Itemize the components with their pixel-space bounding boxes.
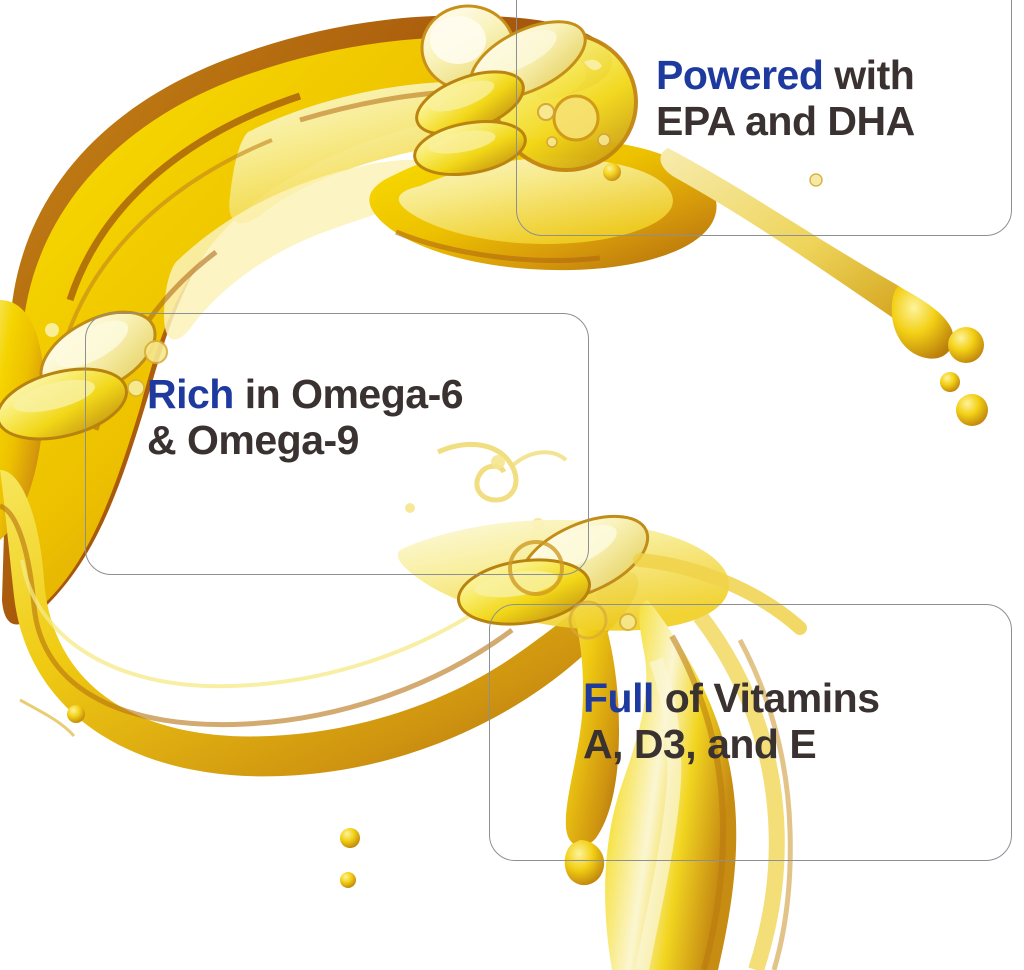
oil-droplet bbox=[340, 872, 356, 888]
callout-text-rich: Rich in Omega-6 & Omega-9 bbox=[147, 371, 577, 464]
callout-text-powered: Powered with EPA and DHA bbox=[656, 52, 1002, 145]
oil-droplet bbox=[948, 327, 984, 363]
oil-droplet bbox=[956, 394, 988, 426]
callout-text-vitamins: Full of Vitamins A, D3, and E bbox=[583, 675, 1003, 768]
callout-highlight-powered: Powered bbox=[656, 52, 823, 98]
graphic-canvas: Powered with EPA and DHA Rich in Omega-6… bbox=[0, 0, 1024, 970]
oil-droplet bbox=[340, 828, 360, 848]
callout-highlight-vitamins: Full bbox=[583, 675, 654, 721]
callout-highlight-rich: Rich bbox=[147, 371, 234, 417]
oil-droplet bbox=[67, 705, 85, 723]
oil-droplet bbox=[940, 372, 960, 392]
